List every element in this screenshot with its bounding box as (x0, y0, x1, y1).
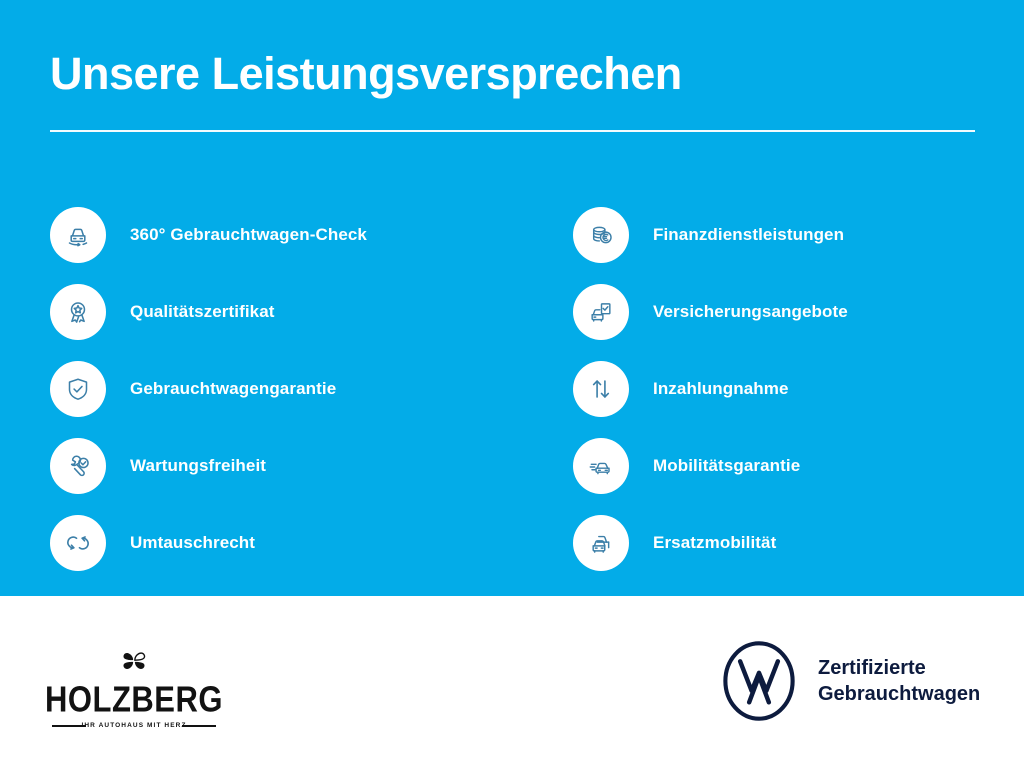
promise-infographic-page: Unsere Leistungsversprechen (0, 0, 1024, 768)
promises-right-column: Finanzdienstleistungen Versicheru (512, 196, 1024, 581)
promise-item-mobility-guarantee[interactable]: Mobilitätsgarantie (573, 427, 1024, 504)
promise-label: 360° Gebrauchtwagen-Check (130, 225, 367, 245)
hero-panel: Unsere Leistungsversprechen (0, 0, 1024, 596)
coins-euro-icon (573, 207, 629, 263)
up-down-arrows-icon (573, 361, 629, 417)
page-title: Unsere Leistungsversprechen (50, 50, 682, 97)
promise-item-warranty[interactable]: Gebrauchtwagengarantie (50, 350, 512, 427)
promise-item-financial-services[interactable]: Finanzdienstleistungen (573, 196, 1024, 273)
promises-grid: 360° Gebrauchtwagen-Check Qualitätszerti… (0, 196, 1024, 581)
certification-logo[interactable]: Zertifizierte Gebrauchtwagen (718, 640, 980, 722)
promise-item-replacement-mobility[interactable]: Ersatzmobilität (573, 504, 1024, 581)
promise-item-quality-certificate[interactable]: Qualitätszertifikat (50, 273, 512, 350)
promise-label: Mobilitätsgarantie (653, 456, 800, 476)
promise-item-maintenance-free[interactable]: Wartungsfreiheit (50, 427, 512, 504)
promises-left-column: 360° Gebrauchtwagen-Check Qualitätszerti… (0, 196, 512, 581)
certification-text: Zertifizierte Gebrauchtwagen (818, 655, 980, 708)
promise-item-trade-in[interactable]: Inzahlungnahme (573, 350, 1024, 427)
dealer-tagline: IHR AUTOHAUS MIT HERZ (44, 722, 224, 729)
wrench-check-icon (50, 438, 106, 494)
car-motion-icon (573, 438, 629, 494)
volkswagen-logo-icon (718, 640, 800, 722)
promise-item-insurance-offers[interactable]: Versicherungsangebote (573, 273, 1024, 350)
dealer-logo[interactable]: HOLZBERG IHR AUTOHAUS MIT HERZ (44, 644, 224, 731)
promise-item-exchange-right[interactable]: Umtauschrecht (50, 504, 512, 581)
promise-label: Inzahlungnahme (653, 379, 789, 399)
certification-line1: Zertifizierte (818, 655, 980, 681)
car-document-check-icon (573, 284, 629, 340)
promise-label: Versicherungsangebote (653, 302, 848, 322)
shield-check-icon (50, 361, 106, 417)
exchange-arrows-icon (50, 515, 106, 571)
promise-label: Wartungsfreiheit (130, 456, 266, 476)
dealer-name: HOLZBERG (44, 681, 224, 718)
footer-panel: HOLZBERG IHR AUTOHAUS MIT HERZ Zertifizi… (0, 596, 1024, 768)
promise-label: Qualitätszertifikat (130, 302, 275, 322)
clover-heart-icon (117, 644, 151, 678)
dealer-tagline-rules: IHR AUTOHAUS MIT HERZ (44, 721, 224, 731)
promise-label: Finanzdienstleistungen (653, 225, 844, 245)
promise-label: Ersatzmobilität (653, 533, 776, 553)
promise-item-360-check[interactable]: 360° Gebrauchtwagen-Check (50, 196, 512, 273)
car-360-check-icon (50, 207, 106, 263)
certification-line2: Gebrauchtwagen (818, 681, 980, 707)
award-rosette-icon (50, 284, 106, 340)
two-cars-icon (573, 515, 629, 571)
title-divider (50, 130, 975, 132)
promise-label: Umtauschrecht (130, 533, 255, 553)
promise-label: Gebrauchtwagengarantie (130, 379, 336, 399)
